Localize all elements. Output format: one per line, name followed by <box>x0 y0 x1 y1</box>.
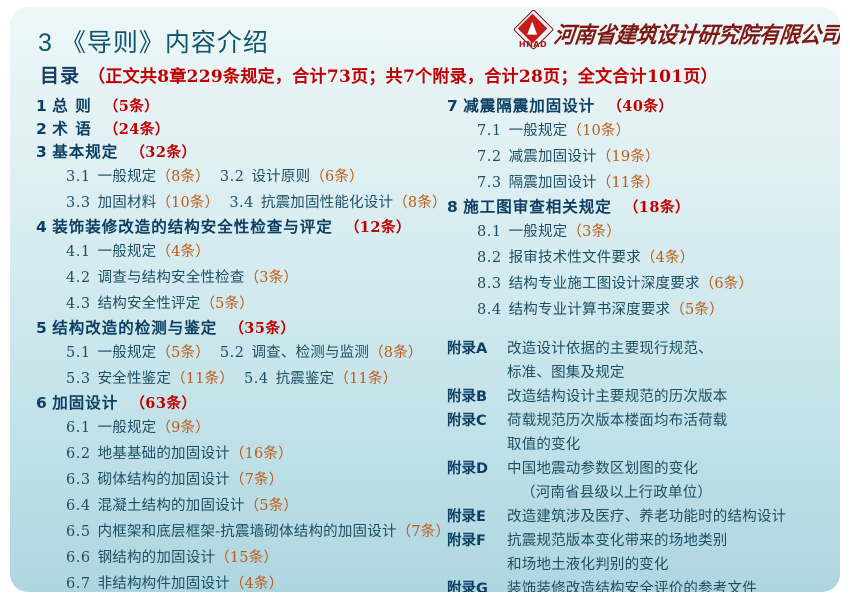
section-number: 6.3 <box>66 472 91 488</box>
section-count: （4条） <box>230 576 284 592</box>
section-number: 5.1 <box>66 345 91 361</box>
section-item[interactable]: 8.2报审技术性文件要求（4条） <box>477 250 694 266</box>
chapter-title: 结构改造的检测与鉴定 <box>52 319 217 337</box>
section-item[interactable]: 6.5内框架和底层框架-抗震墙砌体结构的加固设计（7条） <box>66 524 450 540</box>
chapter-count: （12条） <box>345 219 411 236</box>
appendix-text: 荷载规范历次版本楼面均布活荷载 <box>507 409 728 433</box>
section-count: （7条） <box>230 472 284 488</box>
section-item[interactable]: 8.1一般规定（3条） <box>477 224 621 240</box>
section-row: 6.6钢结构的加固设计（15条） <box>36 545 451 571</box>
chapter-number: 3 <box>36 143 47 161</box>
section-item[interactable]: 4.1一般规定（4条） <box>66 244 210 260</box>
section-item[interactable]: 6.2地基基础的加固设计（16条） <box>66 446 293 462</box>
chapter-number: 1 <box>36 97 47 115</box>
section-title: 抗震加固性能化设计 <box>261 195 393 211</box>
section-title: 设计原则 <box>251 169 310 185</box>
section-item[interactable]: 4.2调查与结构安全性检查（3条） <box>66 270 298 286</box>
section-item[interactable]: 8.4结构专业计算书深度要求（5条） <box>477 302 724 318</box>
section-item[interactable]: 5.2调查、检测与监测（8条） <box>220 345 423 361</box>
section-row: 5.1一般规定（5条）5.2调查、检测与监测（8条） <box>36 340 451 366</box>
appendix-text: 改造设计依据的主要现行规范、 <box>507 337 713 361</box>
section-item[interactable]: 6.6钢结构的加固设计（15条） <box>66 550 278 566</box>
section-count: （5条） <box>156 345 210 361</box>
section-number: 5.4 <box>244 371 269 387</box>
section-row: 4.1一般规定（4条） <box>36 239 451 265</box>
appendix-text: 抗震规范版本变化带来的场地类别 <box>507 529 728 553</box>
chapter-number: 7 <box>447 97 458 115</box>
section-count: （11条） <box>597 175 660 191</box>
appendix-text: 中国地震动参数区划图的变化 <box>507 457 698 481</box>
chapter-title: 加固设计 <box>52 394 118 412</box>
section-number: 8.4 <box>477 302 502 318</box>
section-item[interactable]: 7.1一般规定（10条） <box>477 123 630 139</box>
appendix-label: 附录G <box>447 577 501 592</box>
section-item[interactable]: 3.4抗震加固性能化设计（8条） <box>229 195 446 211</box>
appendix-label: 附录E <box>447 505 501 529</box>
appendix-text: 改造建筑涉及医疗、养老功能时的结构设计 <box>507 505 786 529</box>
company-name: 河南省建筑设计研究院有限公司 <box>552 18 840 50</box>
section-item[interactable]: 7.2减震加固设计（19条） <box>477 149 660 165</box>
appendix-label: 附录F <box>447 529 501 553</box>
section-title: 一般规定 <box>98 345 157 361</box>
section-title: 调查与结构安全性检查 <box>98 270 245 286</box>
section-row: 3.1一般规定（8条）3.2设计原则（6条） <box>36 164 451 190</box>
section-title: 加固材料 <box>98 195 157 211</box>
section-title: 隔震加固设计 <box>509 175 597 191</box>
chapter-count: （24条） <box>104 121 170 138</box>
section-title: 混凝土结构的加固设计 <box>98 498 245 514</box>
section-count: （15条） <box>215 550 278 566</box>
section-row: 8.1一般规定（3条） <box>447 219 840 245</box>
chapter-number: 5 <box>36 319 47 337</box>
section-count: （5条） <box>245 498 299 514</box>
section-count: （3条） <box>567 224 621 240</box>
section-row: 4.2调查与结构安全性检查（3条） <box>36 265 451 291</box>
section-title: 一般规定 <box>98 244 157 260</box>
section-count: （7条） <box>397 524 451 540</box>
section-count: （6条） <box>310 169 364 185</box>
appendix-text: 改造结构设计主要规范的历次版本 <box>507 385 728 409</box>
section-row: 6.5内框架和底层框架-抗震墙砌体结构的加固设计（7条） <box>36 519 451 545</box>
section-row: 6.1一般规定（9条） <box>36 415 451 441</box>
section-number: 3.4 <box>229 195 254 211</box>
section-count: （16条） <box>230 446 293 462</box>
section-item[interactable]: 7.3隔震加固设计（11条） <box>477 175 660 191</box>
chapter-title: 装饰装修改造的结构安全性检查与评定 <box>52 218 333 236</box>
section-row: 6.2地基基础的加固设计（16条） <box>36 441 451 467</box>
section-count: （10条） <box>567 123 630 139</box>
section-title: 地基基础的加固设计 <box>98 446 230 462</box>
section-row: 8.4结构专业计算书深度要求（5条） <box>447 297 840 323</box>
section-number: 6.6 <box>66 550 91 566</box>
section-number: 7.3 <box>477 175 502 191</box>
section-item[interactable]: 6.1一般规定（9条） <box>66 420 210 436</box>
section-item[interactable]: 8.3结构专业施工图设计深度要求（6条） <box>477 276 753 292</box>
section-row: 4.3结构安全性评定（5条） <box>36 291 451 317</box>
chapter-heading[interactable]: 5结构改造的检测与鉴定（35条） <box>36 317 451 340</box>
section-item[interactable]: 5.3安全性鉴定（11条） <box>66 371 234 387</box>
section-row: 8.3结构专业施工图设计深度要求（6条） <box>447 271 840 297</box>
toc-right-column: 7减震隔震加固设计（40条）7.1一般规定（10条）7.2减震加固设计（19条）… <box>447 95 840 592</box>
chapter-count: （18条） <box>624 199 690 216</box>
appendix-list: 附录A改造设计依据的主要现行规范、标准、图集及规定附录B改造结构设计主要规范的历… <box>447 337 840 592</box>
section-number: 7.1 <box>477 123 502 139</box>
slide-root: 3 《导则》内容介绍 目录（正文共8章229条规定，合计73页；共7个附录，合计… <box>0 0 850 601</box>
appendix-item[interactable]: 附录F抗震规范版本变化带来的场地类别 <box>447 529 840 553</box>
section-count: （5条） <box>670 302 724 318</box>
section-title: 钢结构的加固设计 <box>98 550 216 566</box>
company-logo: HNAD 河南省建筑设计研究院有限公司 <box>518 16 840 52</box>
chapter-count: （35条） <box>229 320 295 337</box>
chapter-heading[interactable]: 7减震隔震加固设计（40条） <box>447 95 840 118</box>
toc-label: 目录 <box>40 65 80 87</box>
section-row: 7.2减震加固设计（19条） <box>447 144 840 170</box>
section-row: 7.3隔震加固设计（11条） <box>447 170 840 196</box>
section-count: （11条） <box>334 371 397 387</box>
section-count: （4条） <box>156 244 210 260</box>
section-count: （3条） <box>245 270 299 286</box>
section-row: 3.3加固材料（10条）3.4抗震加固性能化设计（8条） <box>36 190 451 216</box>
section-item[interactable]: 3.1一般规定（8条） <box>66 169 210 185</box>
page-title: 3 《导则》内容介绍 <box>38 23 269 59</box>
section-item[interactable]: 6.7非结构构件加固设计（4条） <box>66 576 283 592</box>
logo-abbreviation: HNAD <box>518 40 548 49</box>
section-title: 结构安全性评定 <box>98 296 201 312</box>
chapter-heading[interactable]: 1总 则（5条） <box>36 95 451 118</box>
toc-heading: 目录（正文共8章229条规定，合计73页；共7个附录，合计28页；全文合计101… <box>40 61 718 88</box>
section-number: 7.2 <box>477 149 502 165</box>
chapter-number: 4 <box>36 218 47 236</box>
slide-panel: 3 《导则》内容介绍 目录（正文共8章229条规定，合计73页；共7个附录，合计… <box>10 7 840 592</box>
appendix-item[interactable]: 附录E改造建筑涉及医疗、养老功能时的结构设计 <box>447 505 840 529</box>
section-count: （8条） <box>156 169 210 185</box>
section-number: 6.4 <box>66 498 91 514</box>
chapter-count: （32条） <box>130 144 196 161</box>
appendix-text-continued: （河南省县级以上行政单位） <box>447 481 840 505</box>
section-row: 5.3安全性鉴定（11条）5.4抗震鉴定（11条） <box>36 366 451 392</box>
chapter-title: 施工图审查相关规定 <box>463 198 612 216</box>
chapter-count: （63条） <box>130 395 196 412</box>
section-title: 报审技术性文件要求 <box>509 250 641 266</box>
section-number: 5.2 <box>220 345 245 361</box>
section-row: 6.7非结构构件加固设计（4条） <box>36 571 451 592</box>
section-number: 6.7 <box>66 576 91 592</box>
section-title: 安全性鉴定 <box>98 371 172 387</box>
chapter-title: 术 语 <box>52 120 91 138</box>
appendix-label: 附录C <box>447 409 501 433</box>
chapter-heading[interactable]: 3基本规定（32条） <box>36 141 451 164</box>
section-number: 4.3 <box>66 296 91 312</box>
section-item[interactable]: 5.4抗震鉴定（11条） <box>244 371 397 387</box>
section-title: 调查、检测与监测 <box>251 345 369 361</box>
section-number: 3.3 <box>66 195 91 211</box>
chapter-heading[interactable]: 2术 语（24条） <box>36 118 451 141</box>
appendix-item[interactable]: 附录C荷载规范历次版本楼面均布活荷载 <box>447 409 840 433</box>
section-title: 非结构构件加固设计 <box>98 576 230 592</box>
section-row: 6.4混凝土结构的加固设计（5条） <box>36 493 451 519</box>
section-count: （9条） <box>156 420 210 436</box>
appendix-text-continued: 标准、图集及规定 <box>447 361 840 385</box>
section-count: （11条） <box>171 371 234 387</box>
section-row: 8.2报审技术性文件要求（4条） <box>447 245 840 271</box>
section-count: （19条） <box>597 149 660 165</box>
chapter-heading[interactable]: 8施工图审查相关规定（18条） <box>447 196 840 219</box>
appendix-label: 附录A <box>447 337 501 361</box>
section-count: （4条） <box>641 250 695 266</box>
chapter-count: （40条） <box>607 98 673 115</box>
section-count: （10条） <box>156 195 219 211</box>
diamond-logo-icon: HNAD <box>518 17 552 51</box>
section-title: 砌体结构的加固设计 <box>98 472 230 488</box>
section-number: 4.2 <box>66 270 91 286</box>
chapter-number: 6 <box>36 394 47 412</box>
section-row: 6.3砌体结构的加固设计（7条） <box>36 467 451 493</box>
section-item[interactable]: 5.1一般规定（5条） <box>66 345 210 361</box>
appendix-text-continued: 取值的变化 <box>447 433 840 457</box>
section-number: 4.1 <box>66 244 91 260</box>
section-number: 8.1 <box>477 224 502 240</box>
section-number: 6.1 <box>66 420 91 436</box>
appendix-item[interactable]: 附录D中国地震动参数区划图的变化 <box>447 457 840 481</box>
section-title: 一般规定 <box>98 420 157 436</box>
chapter-title: 基本规定 <box>52 143 118 161</box>
chapter-title: 总 则 <box>52 97 91 115</box>
section-title: 一般规定 <box>509 123 568 139</box>
toc-note: （正文共8章229条规定，合计73页；共7个附录，合计28页；全文合计101页） <box>88 67 718 87</box>
section-count: （5条） <box>200 296 254 312</box>
section-number: 3.2 <box>220 169 245 185</box>
section-count: （6条） <box>700 276 754 292</box>
appendix-label: 附录B <box>447 385 501 409</box>
toc-left-column: 1总 则（5条）2术 语（24条）3基本规定（32条）3.1一般规定（8条）3.… <box>36 95 451 592</box>
chapter-heading[interactable]: 6加固设计（63条） <box>36 392 451 415</box>
chapter-number: 2 <box>36 120 47 138</box>
section-title: 一般规定 <box>98 169 157 185</box>
appendix-text: 装饰装修改造结构安全评价的参考文件 <box>507 577 757 592</box>
appendix-label: 附录D <box>447 457 501 481</box>
section-item[interactable]: 6.4混凝土结构的加固设计（5条） <box>66 498 298 514</box>
section-item[interactable]: 4.3结构安全性评定（5条） <box>66 296 254 312</box>
section-item[interactable]: 6.3砌体结构的加固设计（7条） <box>66 472 283 488</box>
chapter-title: 减震隔震加固设计 <box>463 97 595 115</box>
section-count: （8条） <box>393 195 447 211</box>
section-title: 结构专业施工图设计深度要求 <box>509 276 700 292</box>
chapter-count: （5条） <box>104 98 160 115</box>
section-number: 3.1 <box>66 169 91 185</box>
appendix-item[interactable]: 附录A改造设计依据的主要现行规范、 <box>447 337 840 361</box>
section-title: 结构专业计算书深度要求 <box>509 302 671 318</box>
appendix-text-continued: 和场地土液化判别的变化 <box>447 553 840 577</box>
section-count: （8条） <box>369 345 423 361</box>
section-number: 6.5 <box>66 524 91 540</box>
section-title: 抗震鉴定 <box>276 371 335 387</box>
appendix-item[interactable]: 附录G装饰装修改造结构安全评价的参考文件 <box>447 577 840 592</box>
section-title: 一般规定 <box>509 224 568 240</box>
section-row: 7.1一般规定（10条） <box>447 118 840 144</box>
chapter-heading[interactable]: 4装饰装修改造的结构安全性检查与评定（12条） <box>36 216 451 239</box>
section-number: 6.2 <box>66 446 91 462</box>
section-number: 8.2 <box>477 250 502 266</box>
section-number: 5.3 <box>66 371 91 387</box>
appendix-item[interactable]: 附录B改造结构设计主要规范的历次版本 <box>447 385 840 409</box>
section-title: 内框架和底层框架-抗震墙砌体结构的加固设计 <box>98 524 397 540</box>
section-title: 减震加固设计 <box>509 149 597 165</box>
section-item[interactable]: 3.3加固材料（10条） <box>66 195 219 211</box>
section-item[interactable]: 3.2设计原则（6条） <box>220 169 364 185</box>
chapter-number: 8 <box>447 198 458 216</box>
section-number: 8.3 <box>477 276 502 292</box>
